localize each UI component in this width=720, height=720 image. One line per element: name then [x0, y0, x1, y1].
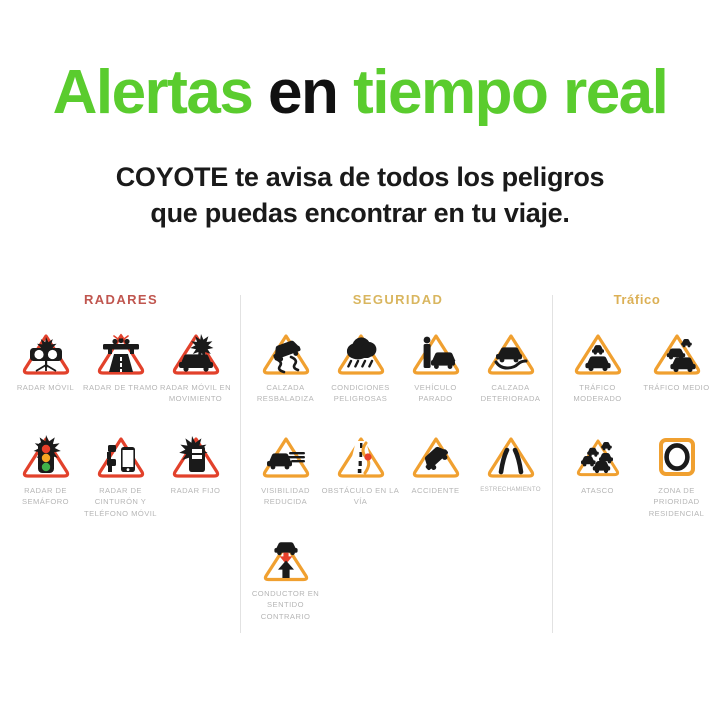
alert-label: OBSTÁCULO EN LA VÍA	[322, 485, 400, 508]
trafico-moderado-icon	[570, 328, 626, 380]
headline-part-2: en	[268, 58, 353, 127]
alert-item-radar-movil-en-movimiento[interactable]: RADAR MÓVIL EN MOVIMIENTO	[158, 324, 233, 427]
headline-part-3: tiempo real	[353, 58, 667, 127]
alert-categories: RADARES	[0, 292, 720, 642]
alert-label: CALZADA RESBALADIZA	[247, 382, 325, 405]
alert-item-condiciones-peligrosas[interactable]: CONDICIONES PELIGROSAS	[323, 324, 398, 427]
infographic-page: Alertas en tiempo real COYOTE te avisa d…	[0, 0, 720, 720]
alert-item-radar-de-semaforo[interactable]: RADAR DE SEMÁFORO	[8, 427, 83, 530]
alert-label: ATASCO	[559, 485, 637, 496]
page-subtitle: COYOTE te avisa de todos los peligros qu…	[0, 160, 720, 231]
atasco-icon	[570, 431, 626, 483]
trafico-icon-grid: TRÁFICO MODERADO	[558, 324, 716, 530]
alert-item-vehiculo-parado[interactable]: VEHÍCULO PARADO	[398, 324, 473, 427]
alert-label: RADAR DE SEMÁFORO	[7, 485, 85, 508]
alert-label: VISIBILIDAD REDUCIDA	[247, 485, 325, 508]
alert-label: VEHÍCULO PARADO	[397, 382, 475, 405]
alert-item-calzada-deteriorada[interactable]: CALZADA DETERIORADA	[473, 324, 548, 427]
alert-item-estrechamiento[interactable]: ESTRECHAMIENTO	[473, 427, 548, 530]
alert-label: TRÁFICO MODERADO	[559, 382, 637, 405]
alert-label: RADAR DE CINTURÓN Y TELÉFONO MÓVIL	[82, 485, 160, 519]
alert-item-conductor-sentido-contrario[interactable]: CONDUCTOR EN SENTIDO CONTRARIO	[248, 530, 323, 633]
radar-de-tramo-icon	[93, 328, 149, 380]
alert-label: RADAR DE TRAMO	[82, 382, 160, 393]
alert-label: CALZADA DETERIORADA	[472, 382, 550, 405]
radar-de-semaforo-icon	[18, 431, 74, 483]
vehiculo-parado-icon	[408, 328, 464, 380]
radar-movil-icon	[18, 328, 74, 380]
alert-label: RADAR MÓVIL	[7, 382, 85, 393]
radar-fijo-icon	[168, 431, 224, 483]
visibilidad-reducida-icon	[258, 431, 314, 483]
alert-item-atasco[interactable]: ATASCO	[558, 427, 637, 530]
conductor-sentido-contrario-icon	[258, 534, 314, 586]
alert-item-accidente[interactable]: ACCIDENTE	[398, 427, 473, 530]
calzada-deteriorada-icon	[483, 328, 539, 380]
alert-item-calzada-resbaladiza[interactable]: CALZADA RESBALADIZA	[248, 324, 323, 427]
category-header-radares: RADARES	[8, 292, 234, 308]
condiciones-peligrosas-icon	[333, 328, 389, 380]
subtitle-line-2: que puedas encontrar en tu viaje.	[0, 196, 720, 232]
alert-label: TRÁFICO MEDIO	[638, 382, 716, 393]
estrechamiento-icon	[483, 431, 539, 483]
radar-movil-en-movimiento-icon	[168, 328, 224, 380]
alert-item-visibilidad-reducida[interactable]: VISIBILIDAD REDUCIDA	[248, 427, 323, 530]
headline-part-1: Alertas	[53, 58, 268, 127]
alert-label: CONDUCTOR EN SENTIDO CONTRARIO	[247, 588, 325, 622]
subtitle-line-1: COYOTE te avisa de todos los peligros	[0, 160, 720, 196]
alert-item-obstaculo-en-la-via[interactable]: OBSTÁCULO EN LA VÍA	[323, 427, 398, 530]
column-divider-left	[240, 295, 241, 633]
alert-label: CONDICIONES PELIGROSAS	[322, 382, 400, 405]
radares-icon-grid: RADAR MÓVIL	[8, 324, 234, 530]
zona-prioridad-residencial-icon	[649, 431, 705, 483]
alert-item-radar-cinturon-telefono[interactable]: RADAR DE CINTURÓN Y TELÉFONO MÓVIL	[83, 427, 158, 530]
seguridad-icon-grid: CALZADA RESBALADIZA	[248, 324, 548, 633]
obstaculo-en-la-via-icon	[333, 431, 389, 483]
alert-item-trafico-moderado[interactable]: TRÁFICO MODERADO	[558, 324, 637, 427]
accidente-icon	[408, 431, 464, 483]
page-headline: Alertas en tiempo real	[0, 62, 720, 124]
column-divider-right	[552, 295, 553, 633]
alert-label: RADAR FIJO	[157, 485, 235, 496]
category-header-trafico: Tráfico	[558, 292, 716, 308]
alert-item-radar-fijo[interactable]: RADAR FIJO	[158, 427, 233, 530]
alert-item-zona-prioridad-residencial[interactable]: ZONA DE PRIORIDAD RESIDENCIAL	[637, 427, 716, 530]
trafico-medio-icon	[649, 328, 705, 380]
alert-item-radar-movil[interactable]: RADAR MÓVIL	[8, 324, 83, 427]
alert-label: ACCIDENTE	[397, 485, 475, 496]
alert-label: ZONA DE PRIORIDAD RESIDENCIAL	[638, 485, 716, 519]
radar-cinturon-telefono-icon	[93, 431, 149, 483]
category-header-seguridad: SEGURIDAD	[248, 292, 548, 308]
alert-item-radar-de-tramo[interactable]: RADAR DE TRAMO	[83, 324, 158, 427]
category-trafico: Tráfico	[558, 292, 716, 530]
alert-item-trafico-medio[interactable]: TRÁFICO MEDIO	[637, 324, 716, 427]
category-seguridad: SEGURIDAD	[248, 292, 548, 633]
alert-label: RADAR MÓVIL EN MOVIMIENTO	[157, 382, 235, 405]
calzada-resbaladiza-icon	[258, 328, 314, 380]
alert-label: ESTRECHAMIENTO	[472, 485, 550, 494]
category-radares: RADARES	[8, 292, 234, 530]
